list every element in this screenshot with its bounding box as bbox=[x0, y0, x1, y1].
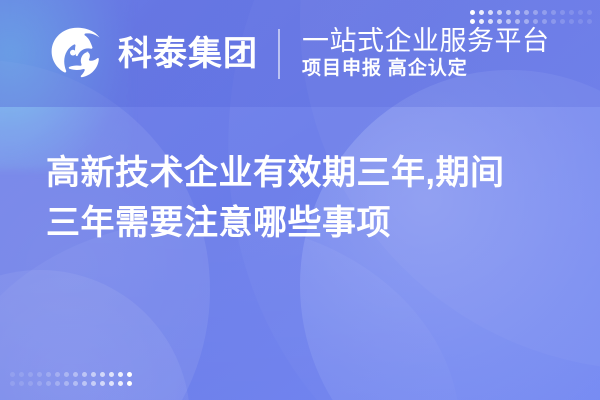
dot-grid-top-right bbox=[470, 10, 592, 24]
decor-dot bbox=[73, 372, 78, 377]
decor-dot bbox=[524, 19, 529, 24]
decor-dot bbox=[515, 19, 520, 24]
decor-dot bbox=[551, 10, 556, 15]
decor-dot bbox=[91, 372, 96, 377]
decor-dot bbox=[587, 10, 592, 15]
dot-row bbox=[470, 19, 592, 24]
decor-dot bbox=[587, 19, 592, 24]
decor-dot bbox=[37, 381, 42, 386]
title-line-2: 三年需要注意哪些事项 bbox=[46, 198, 566, 248]
decor-dot bbox=[82, 372, 87, 377]
decor-dot bbox=[506, 19, 511, 24]
decor-dot bbox=[118, 372, 123, 377]
tagline-sub-text: 项目申报 高企认定 bbox=[302, 59, 550, 80]
decor-dot bbox=[118, 381, 123, 386]
dot-grid-bottom-left bbox=[10, 372, 132, 386]
decor-dot bbox=[569, 10, 574, 15]
decor-dot bbox=[497, 19, 502, 24]
decor-dot bbox=[127, 372, 132, 377]
decor-dot bbox=[551, 19, 556, 24]
decor-dot bbox=[515, 10, 520, 15]
decor-dot bbox=[100, 381, 105, 386]
decor-dot bbox=[560, 19, 565, 24]
decor-dot bbox=[109, 372, 114, 377]
decor-dot bbox=[55, 381, 60, 386]
dot-row bbox=[470, 10, 592, 15]
decor-dot bbox=[533, 10, 538, 15]
tagline-main-text: 一站式企业服务平台 bbox=[302, 27, 550, 55]
decor-dot bbox=[10, 381, 15, 386]
decor-dot bbox=[100, 372, 105, 377]
ketai-group-logo-icon bbox=[48, 25, 106, 83]
dot-row bbox=[10, 381, 132, 386]
decor-dot bbox=[64, 381, 69, 386]
article-banner: 科泰集团 一站式企业服务平台 项目申报 高企认定 高新技术企业有效期三年,期间 … bbox=[0, 0, 600, 400]
brand-logo[interactable]: 科泰集团 bbox=[48, 25, 258, 83]
decor-dot bbox=[569, 19, 574, 24]
header-divider bbox=[278, 29, 280, 79]
decor-dot bbox=[64, 372, 69, 377]
decor-dot bbox=[73, 381, 78, 386]
decor-dot bbox=[479, 19, 484, 24]
decor-dot bbox=[55, 372, 60, 377]
decor-dot bbox=[28, 372, 33, 377]
decor-dot bbox=[542, 10, 547, 15]
decor-dot bbox=[19, 381, 24, 386]
header-tagline: 一站式企业服务平台 项目申报 高企认定 bbox=[302, 27, 550, 79]
decor-dot bbox=[578, 19, 583, 24]
decor-dot bbox=[488, 19, 493, 24]
decor-dot bbox=[127, 381, 132, 386]
decor-dot bbox=[506, 10, 511, 15]
decor-dot bbox=[497, 10, 502, 15]
page-title: 高新技术企业有效期三年,期间 三年需要注意哪些事项 bbox=[46, 148, 566, 249]
decor-dot bbox=[82, 381, 87, 386]
decor-dot bbox=[10, 372, 15, 377]
decor-dot bbox=[46, 372, 51, 377]
decor-dot bbox=[560, 10, 565, 15]
decor-dot bbox=[91, 381, 96, 386]
decor-dot bbox=[28, 381, 33, 386]
decor-dot bbox=[488, 10, 493, 15]
decor-dot bbox=[479, 10, 484, 15]
decor-dot bbox=[542, 19, 547, 24]
decor-dot bbox=[109, 381, 114, 386]
decor-dot bbox=[524, 10, 529, 15]
decor-dot bbox=[533, 19, 538, 24]
decor-dot bbox=[470, 10, 475, 15]
title-line-1: 高新技术企业有效期三年,期间 bbox=[46, 148, 566, 198]
dot-row bbox=[10, 372, 132, 377]
decor-dot bbox=[46, 381, 51, 386]
brand-name-text: 科泰集团 bbox=[118, 37, 258, 71]
decor-dot bbox=[578, 10, 583, 15]
decor-dot bbox=[470, 19, 475, 24]
decor-dot bbox=[37, 372, 42, 377]
decor-dot bbox=[19, 372, 24, 377]
